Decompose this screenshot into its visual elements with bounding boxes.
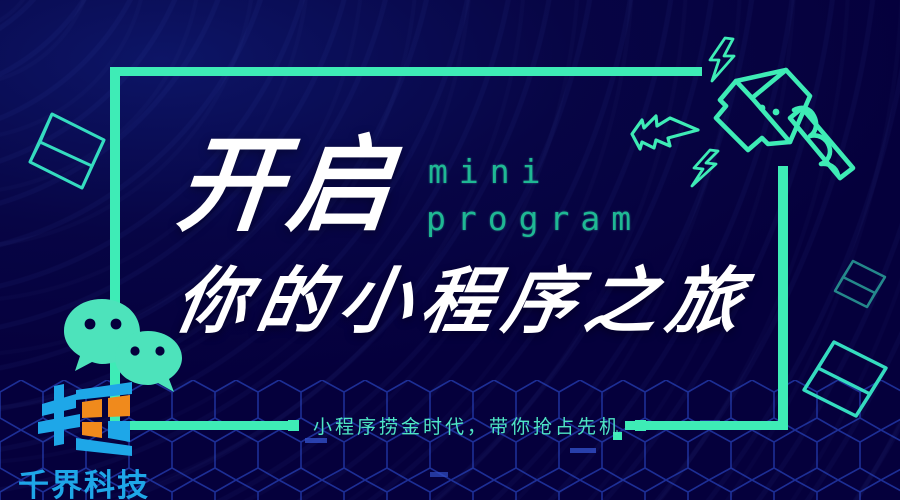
tagline-group: 小程序捞金时代，带你抢占先机 xyxy=(288,412,646,439)
brand-name-cn: 千界科技 xyxy=(18,460,150,500)
frame-bottom-left-line xyxy=(110,421,298,430)
frame-top-line xyxy=(110,67,702,76)
subtitle-cn: 你的小程序之旅 xyxy=(170,266,757,338)
lightning-bolt-icon xyxy=(688,148,722,190)
tagline-bullet-left xyxy=(288,420,299,431)
tagline-bullet-right xyxy=(635,420,646,431)
frame-bottom-right-line xyxy=(645,421,788,430)
page-title-cn: 开启 xyxy=(173,135,404,239)
headline-en-group: mini program xyxy=(428,149,642,243)
wireframe-cube-icon xyxy=(832,258,888,316)
headline-en-line2: program xyxy=(426,196,642,243)
tagline-text: 小程序捞金时代，带你抢占先机 xyxy=(313,412,621,439)
promo-poster: 开启 mini program 你的小程序之旅 小程序捞金时代，带你抢占先机 xyxy=(0,0,900,500)
lightning-bolt-icon xyxy=(705,36,739,84)
wireframe-cube-icon xyxy=(22,108,114,200)
wireframe-cube-icon xyxy=(800,338,890,430)
headline-group: 开启 mini program xyxy=(178,135,642,243)
headline-en-line1: mini xyxy=(428,149,642,196)
frame-right-line xyxy=(778,166,788,429)
brand-logo-mark-icon xyxy=(32,380,138,463)
